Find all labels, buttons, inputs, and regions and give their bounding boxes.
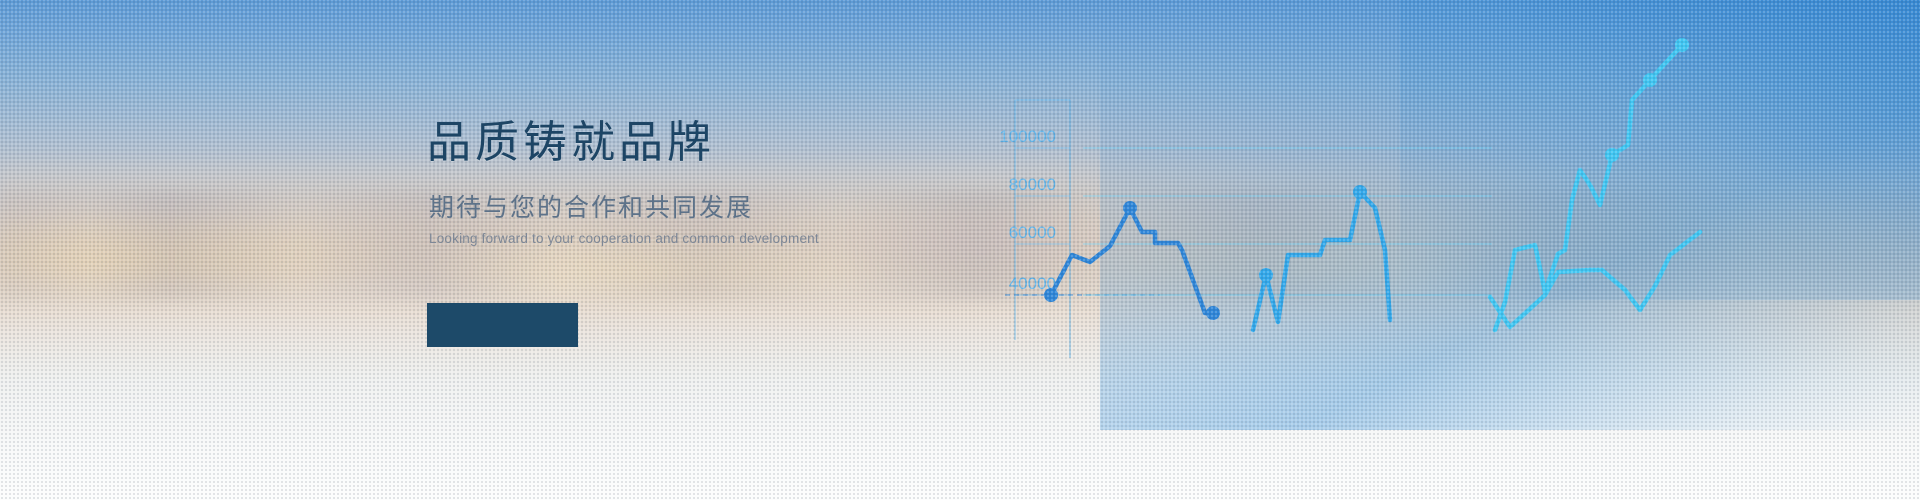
hero-banner: 100000800006000040000 品质铸就品牌 期待与您的合作和共同发… <box>0 0 1920 500</box>
cta-button[interactable] <box>427 303 578 347</box>
page-title: 品质铸就品牌 <box>427 118 1087 167</box>
hero-copy: 品质铸就品牌 期待与您的合作和共同发展 Looking forward to y… <box>427 118 1087 246</box>
hero-subtitle: 期待与您的合作和共同发展 <box>429 193 1087 223</box>
halftone-dot-overlay-light <box>0 0 1920 500</box>
hero-subtitle-english: Looking forward to your cooperation and … <box>429 231 1087 246</box>
